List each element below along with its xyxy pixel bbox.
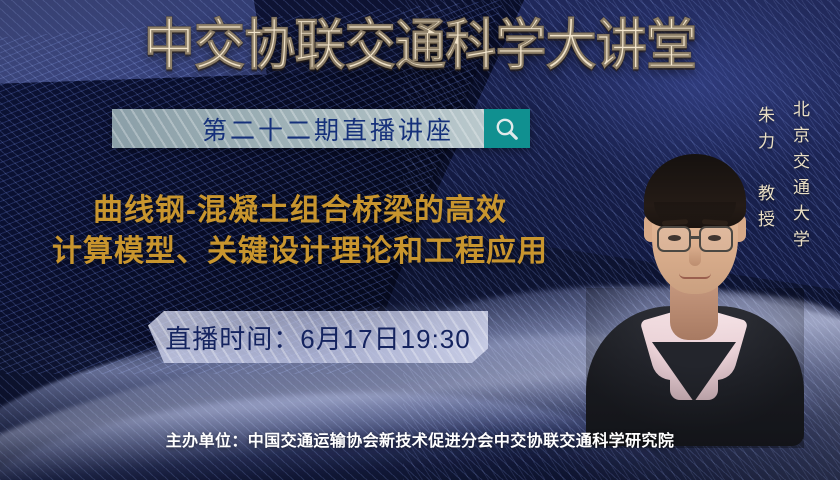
lecture-headline: 曲线钢-混凝土组合桥梁的高效 计算模型、关键设计理论和工程应用 xyxy=(0,190,600,272)
page-title: 中交协联交通科学大讲堂 xyxy=(29,14,810,76)
portrait-mouth xyxy=(679,273,711,279)
speaker-affiliation: 北京交通大学 xyxy=(787,100,812,256)
headline-line-2: 计算模型、关键设计理论和工程应用 xyxy=(0,231,600,272)
glasses-icon-right xyxy=(699,226,733,252)
episode-label: 第二十二期直播讲座 xyxy=(142,111,454,147)
glasses-icon-left xyxy=(657,226,691,252)
live-lecture-poster: 中交协联交通科学大讲堂 第二十二期直播讲座 曲线钢-混凝土组合桥梁的高效 计算模… xyxy=(0,0,840,480)
footer-org-2: 中交协联交通科学研究院 xyxy=(494,433,674,450)
search-icon[interactable] xyxy=(484,109,530,148)
speaker-name: 朱力 教授 xyxy=(752,106,777,236)
headline-line-1: 曲线钢-混凝土组合桥梁的高效 xyxy=(0,190,600,231)
broadcast-time-plate: 直播时间：6月17日19:30 xyxy=(148,311,488,363)
episode-banner: 第二十二期直播讲座 xyxy=(112,109,530,148)
footer-organizer-label: 主办单位： xyxy=(166,433,248,450)
footer-org-1: 中国交通运输协会新技术促进分会 xyxy=(248,433,494,450)
portrait-hair xyxy=(644,154,746,228)
footer-organizers: 主办单位：中国交通运输协会新技术促进分会中交协联交通科学研究院 xyxy=(0,427,840,451)
glasses-bridge xyxy=(691,236,699,239)
episode-banner-body: 第二十二期直播讲座 xyxy=(112,109,484,148)
portrait-nose xyxy=(689,246,701,266)
portrait-shadow xyxy=(586,288,804,448)
broadcast-time-text: 直播时间：6月17日19:30 xyxy=(165,319,470,356)
